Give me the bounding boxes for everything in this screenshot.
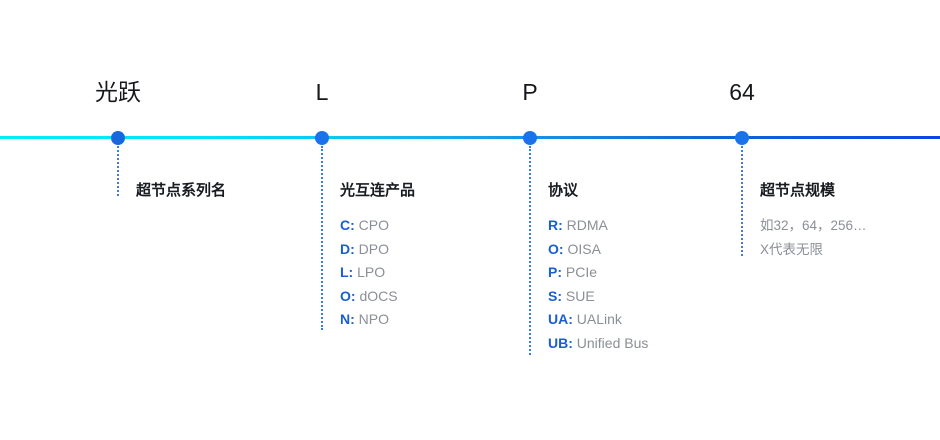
panel-list-item: L: LPO	[340, 261, 550, 285]
node-panel: 光互连产品 C: CPOD: DPOL: LPOO: dOCSN: NPO	[340, 180, 550, 332]
node-stem-connector	[529, 146, 533, 355]
node-stem-connector	[741, 146, 745, 256]
node-dot-icon[interactable]	[523, 131, 537, 145]
list-item-key: S:	[548, 288, 562, 304]
list-item-key: P:	[548, 264, 562, 280]
node-stem-connector	[321, 146, 325, 330]
list-item-value: OISA	[564, 241, 601, 257]
node-panel: 超节点规模 如32，64，256…X代表无限	[760, 180, 940, 262]
list-item-value: dOCS	[356, 288, 398, 304]
panel-list-item: O: dOCS	[340, 285, 550, 309]
panel-heading: 超节点系列名	[136, 180, 346, 201]
list-item-key: C:	[340, 217, 355, 233]
panel-list-item: D: DPO	[340, 238, 550, 262]
panel-heading: 光互连产品	[340, 180, 550, 201]
panel-list-item: P: PCIe	[548, 261, 758, 285]
node-panel: 超节点系列名	[136, 180, 346, 214]
panel-list-item: O: OISA	[548, 238, 758, 262]
node-token-label: 64	[729, 78, 755, 106]
list-item-value: DPO	[355, 241, 389, 257]
panel-list-item: S: SUE	[548, 285, 758, 309]
panel-list-item: N: NPO	[340, 308, 550, 332]
list-item-key: O:	[340, 288, 356, 304]
panel-heading: 协议	[548, 180, 758, 201]
panel-note: 如32，64，256…	[760, 214, 940, 238]
list-item-value: UALink	[573, 311, 622, 327]
panel-list-item: UB: Unified Bus	[548, 332, 758, 356]
list-item-key: R:	[548, 217, 563, 233]
list-item-value: RDMA	[563, 217, 608, 233]
list-item-key: D:	[340, 241, 355, 257]
list-item-value: LPO	[353, 264, 385, 280]
list-item-key: UA:	[548, 311, 573, 327]
node-dot-icon[interactable]	[111, 131, 125, 145]
node-dot-icon[interactable]	[315, 131, 329, 145]
panel-list: R: RDMAO: OISAP: PCIeS: SUEUA: UALinkUB:…	[548, 214, 758, 355]
list-item-key: O:	[548, 241, 564, 257]
panel-note: X代表无限	[760, 238, 940, 262]
timeline-axis	[0, 136, 940, 139]
list-item-value: PCIe	[562, 264, 597, 280]
node-token-label: P	[522, 78, 537, 106]
panel-list-item: R: RDMA	[548, 214, 758, 238]
node-stem-connector	[117, 146, 121, 196]
node-panel: 协议 R: RDMAO: OISAP: PCIeS: SUEUA: UALink…	[548, 180, 758, 355]
panel-notes: 如32，64，256…X代表无限	[760, 214, 940, 262]
list-item-value: Unified Bus	[573, 335, 648, 351]
list-item-key: L:	[340, 264, 353, 280]
list-item-value: CPO	[355, 217, 389, 233]
node-dot-icon[interactable]	[735, 131, 749, 145]
panel-list: C: CPOD: DPOL: LPOO: dOCSN: NPO	[340, 214, 550, 332]
panel-list-item: C: CPO	[340, 214, 550, 238]
node-token-label: L	[316, 78, 329, 106]
panel-list-item: UA: UALink	[548, 308, 758, 332]
list-item-key: N:	[340, 311, 355, 327]
node-token-label: 光跃	[95, 78, 141, 106]
list-item-value: NPO	[355, 311, 389, 327]
panel-heading: 超节点规模	[760, 180, 940, 201]
list-item-key: UB:	[548, 335, 573, 351]
list-item-value: SUE	[562, 288, 595, 304]
